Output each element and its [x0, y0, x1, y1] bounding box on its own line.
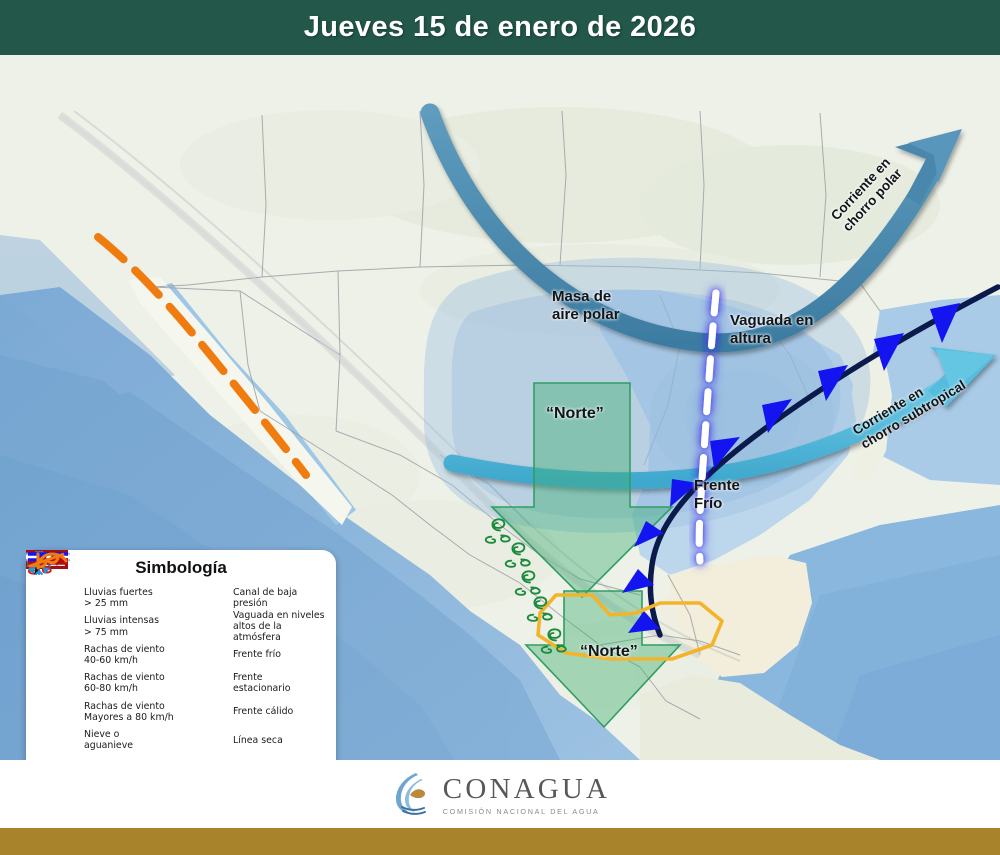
legend-column-right: Canal de baja presión Vaguada en niveles…	[181, 584, 330, 760]
legend-label: Rachas de viento Mayores a 80 km/h	[84, 701, 174, 723]
legend-item-wind-60-80: Rachas de viento 60-80 km/h	[32, 669, 181, 697]
legend-panel: Simbología Lluvias fuertes > 25 mm Lluvi…	[26, 550, 336, 760]
dry-line-icon	[181, 727, 227, 753]
page-header: Jueves 15 de enero de 2026	[0, 0, 1000, 55]
page-footer: CONAGUA COMISIÓN NACIONAL DEL AGUA	[0, 760, 1000, 828]
legend-item-warm-front: Frente cálido	[181, 698, 330, 726]
legend-item-wind-80-plus: Rachas de viento Mayores a 80 km/h	[32, 698, 181, 726]
upper-trough-icon	[181, 614, 227, 640]
wind-gust-orange-icon	[32, 670, 78, 696]
wind-gust-green-icon	[32, 642, 78, 668]
legend-label: Vaguada en niveles altos de la atmósfera	[233, 610, 330, 643]
conagua-logo: CONAGUA COMISIÓN NACIONAL DEL AGUA	[390, 770, 610, 818]
rain-intense-box-icon	[32, 614, 78, 640]
legend-label: Lluvias intensas > 75 mm	[84, 615, 159, 637]
legend-title: Simbología	[26, 558, 336, 578]
logo-subtitle: COMISIÓN NACIONAL DEL AGUA	[443, 807, 610, 816]
legend-item-dry-line: Línea seca	[181, 726, 330, 754]
legend-column-left: Lluvias fuertes > 25 mm Lluvias intensas…	[32, 584, 181, 760]
legend-label: Rachas de viento 40-60 km/h	[84, 644, 165, 666]
legend-label: Rachas de viento 60-80 km/h	[84, 672, 165, 694]
cold-front-icon	[181, 642, 227, 668]
legend-label: Frente frío	[233, 649, 281, 660]
legend-label: Canal de baja presión	[233, 587, 297, 609]
page-title: Jueves 15 de enero de 2026	[304, 11, 696, 44]
legend-item-upper-trough: Vaguada en niveles altos de la atmósfera	[181, 612, 330, 640]
weather-map: Masa de aire polar Vaguada en altura Fre…	[0, 55, 1000, 760]
legend-label: Lluvias fuertes > 25 mm	[84, 587, 153, 609]
legend-item-cold-front: Frente frío	[181, 641, 330, 669]
wind-gust-red-icon	[32, 699, 78, 725]
legend-item-stationary-front: Frente estacionario	[181, 669, 330, 697]
legend-item-low-pressure-channel: Canal de baja presión	[181, 584, 330, 612]
legend-item-rain-heavy: Lluvias fuertes > 25 mm	[32, 584, 181, 612]
legend-label: Frente cálido	[233, 706, 293, 717]
low-pressure-channel-icon	[181, 585, 227, 611]
legend-item-snow: Nieve o aguanieve	[32, 726, 181, 754]
rain-heavy-box-icon	[32, 585, 78, 611]
legend-label: Nieve o aguanieve	[84, 729, 133, 751]
logo-name: CONAGUA	[443, 773, 610, 806]
bottom-accent-bar	[0, 828, 1000, 855]
warm-front-icon	[181, 699, 227, 725]
legend-label: Frente estacionario	[233, 672, 290, 694]
stationary-front-icon	[181, 670, 227, 696]
legend-label: Línea seca	[233, 735, 283, 746]
snow-icon	[32, 727, 78, 753]
conagua-emblem-icon	[390, 770, 434, 818]
legend-item-wind-40-60: Rachas de viento 40-60 km/h	[32, 641, 181, 669]
legend-item-rain-intense: Lluvias intensas > 75 mm	[32, 612, 181, 640]
